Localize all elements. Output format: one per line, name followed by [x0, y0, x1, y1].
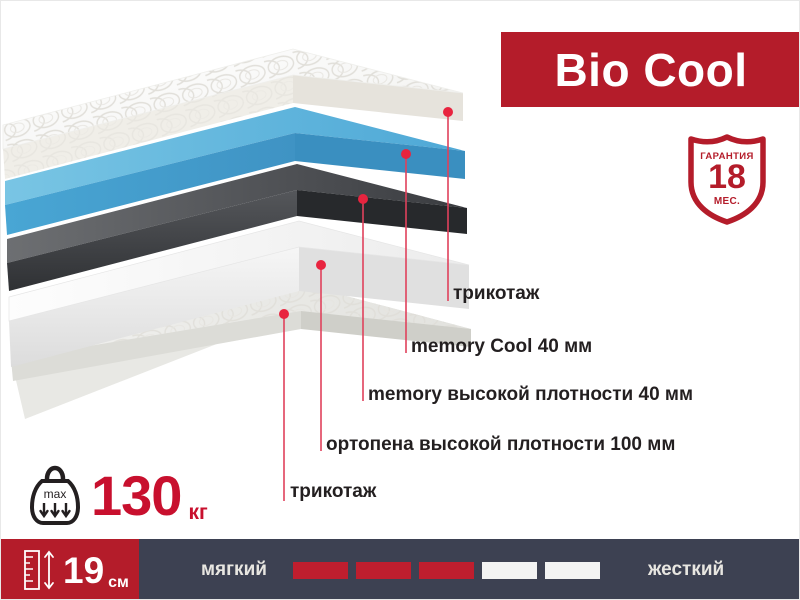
- mattress-layers-illustration: [1, 29, 501, 479]
- product-infographic: трикотаж memory Cool 40 мм memory высоко…: [0, 0, 800, 600]
- height-unit: см: [108, 574, 129, 592]
- firmness-scale: [293, 562, 608, 579]
- brand-name: Bio Cool: [554, 47, 747, 93]
- firmness-soft-label: мягкий: [201, 559, 267, 581]
- firmness-segment-3: [419, 562, 474, 579]
- layer-label-memory-cool: memory Cool 40 мм: [411, 337, 592, 356]
- warranty-badge: ГАРАНТИЯ 18 МЕС.: [685, 134, 769, 226]
- layer-label-bottom-knit: трикотаж: [290, 482, 376, 501]
- kettlebell-icon: max: [29, 465, 81, 527]
- firmness-segment-2: [356, 562, 411, 579]
- warranty-value: 18: [685, 160, 769, 194]
- warranty-unit: МЕС.: [685, 196, 769, 207]
- layer-label-top-knit: трикотаж: [453, 284, 539, 303]
- firmness-hard-label: жесткий: [648, 559, 724, 581]
- weight-capacity-badge: max 130 кг: [29, 459, 208, 533]
- firmness-segment-4: [482, 562, 537, 579]
- height-value: 19: [63, 552, 104, 589]
- firmness-segment-5: [545, 562, 600, 579]
- kettlebell-max-text: max: [44, 487, 67, 501]
- bottom-info-bar: 19 см мягкий жесткий: [1, 539, 800, 600]
- weight-unit: кг: [188, 501, 207, 525]
- height-block: 19 см: [1, 539, 139, 600]
- layer-label-orthopedic-foam: ортопена высокой плотности 100 мм: [326, 435, 675, 454]
- firmness-segment-1: [293, 562, 348, 579]
- ruler-icon: [23, 549, 57, 591]
- weight-value: 130: [91, 468, 181, 524]
- layer-label-memory-high-density: memory высокой плотности 40 мм: [368, 385, 693, 404]
- brand-banner: Bio Cool: [501, 32, 800, 107]
